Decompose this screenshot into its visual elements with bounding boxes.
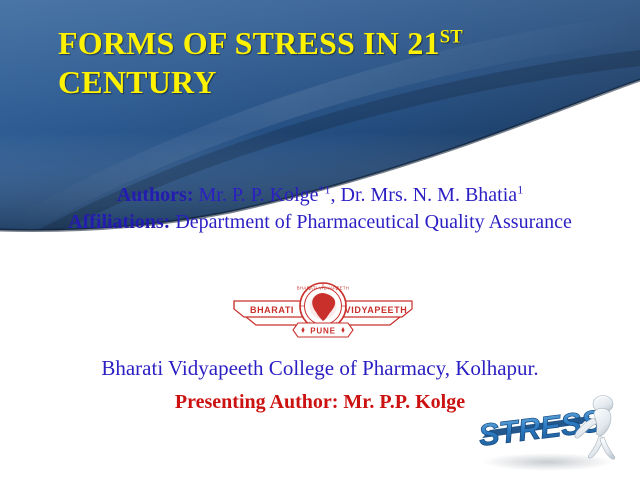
authors-affiliations-block: Authors: Mr. P. P. Kolge*1, Dr. Mrs. N. … <box>40 182 600 236</box>
figure-leg-back <box>600 437 615 459</box>
logo-left-wing-label: BHARATI <box>250 305 294 315</box>
logo-emblem: BHARATI VIDYAPEETH <box>297 283 349 329</box>
author-one-superscript: *1 <box>319 182 331 196</box>
title-main: FORMS OF STRESS IN 21 <box>58 25 440 61</box>
slide-title: FORMS OF STRESS IN 21ST CENTURY <box>58 24 598 103</box>
title-second-line: CENTURY <box>58 64 217 100</box>
presentation-slide: FORMS OF STRESS IN 21ST CENTURY Authors:… <box>0 0 640 480</box>
affiliations-text: Department of Pharmaceutical Quality Ass… <box>170 211 572 233</box>
authors-separator: , <box>331 184 341 206</box>
bharati-vidyapeeth-logo: BHARATI VIDYAPEETH BHARATI VIDYAPEETH PU… <box>228 281 418 339</box>
authors-label: Authors: <box>117 184 194 206</box>
college-name: Bharati Vidyapeeth College of Pharmacy, … <box>20 355 620 382</box>
logo-pune-ribbon: PUNE <box>293 323 353 337</box>
title-superscript: ST <box>440 26 463 47</box>
author-two-superscript: 1 <box>517 182 523 196</box>
logo-ring-text: BHARATI VIDYAPEETH <box>297 286 349 291</box>
logo-pune-label: PUNE <box>310 327 335 336</box>
author-two: Dr. Mrs. N. M. Bhatia <box>341 184 518 206</box>
authors-line: Authors: Mr. P. P. Kolge*1, Dr. Mrs. N. … <box>40 182 600 209</box>
author-one: Mr. P. P. Kolge <box>193 184 318 206</box>
logo-right-wing-label: VIDYAPEETH <box>345 305 408 315</box>
stress-artwork: STRESS <box>470 392 640 480</box>
affiliations-line: Affiliations: Department of Pharmaceutic… <box>40 209 600 236</box>
affiliations-label: Affiliations: <box>68 211 170 233</box>
